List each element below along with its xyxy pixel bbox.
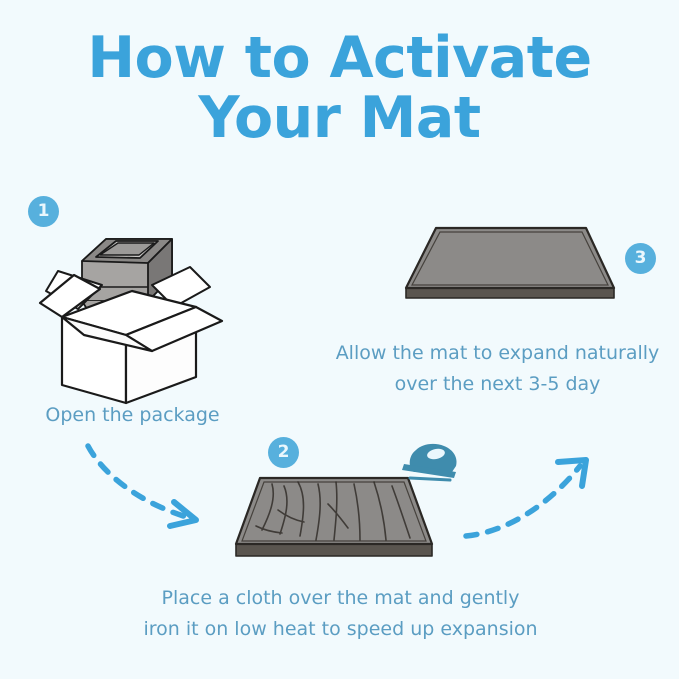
box-body xyxy=(62,291,196,403)
step-badge-2: 2 xyxy=(268,437,299,468)
expanded-mat-illustration xyxy=(400,220,620,320)
infographic-root: How to Activate Your Mat 1 xyxy=(0,0,679,679)
step-badge-1: 1 xyxy=(28,196,59,227)
title-line-1: How to Activate xyxy=(0,28,679,88)
step-1-caption: Open the package xyxy=(0,400,265,431)
page-title: How to Activate Your Mat xyxy=(0,28,679,149)
dashed-arrow-left-icon xyxy=(82,442,222,542)
dashed-arrow-right-icon xyxy=(462,448,602,548)
step-2-caption: Place a cloth over the mat and gently ir… xyxy=(108,583,573,645)
iron-icon xyxy=(398,440,462,490)
title-line-2: Your Mat xyxy=(0,88,679,148)
open-box-illustration xyxy=(40,225,240,405)
step-3-caption: Allow the mat to expand naturally over t… xyxy=(316,338,679,400)
step-badge-3: 3 xyxy=(625,243,656,274)
